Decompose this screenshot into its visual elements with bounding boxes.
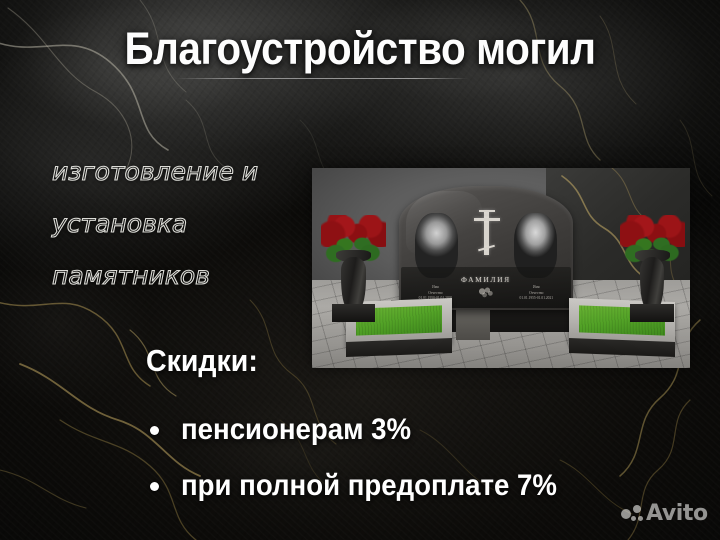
subtitle-line-1: изготовление и (52, 146, 314, 198)
avito-watermark: Avito (621, 503, 708, 525)
vase-pedestal-right (630, 304, 674, 321)
bullet-dot-icon (150, 482, 159, 491)
discount-item-label: пенсионерам 3% (181, 415, 411, 445)
avito-dot-small-right (638, 516, 643, 521)
discounts-heading: Скидки: (146, 345, 258, 376)
subtitle-line-3: памятников (52, 250, 314, 302)
flower-vase-left (320, 200, 388, 324)
headstone-surname: ФАМИЛИЯ (399, 275, 573, 284)
list-item: при полной предоплате 7% (150, 458, 670, 514)
list-item: пенсионерам 3% (150, 402, 670, 458)
avito-dots-icon (621, 504, 643, 524)
discount-item-label: при полной предоплате 7% (181, 471, 557, 501)
vase-body-left (341, 257, 365, 307)
headstone-name-right-dates: 01.01.1955-01.01.2021 (514, 296, 559, 302)
avito-brand-text: Avito (646, 503, 708, 525)
subtitle-block: изготовление и установка памятников (52, 146, 314, 302)
title-underline-rule (176, 78, 468, 79)
flower-vase-right (618, 200, 686, 324)
engraved-flower-icon (474, 285, 498, 301)
poster-canvas: Благоустройство могил изготовление и уст… (0, 0, 720, 540)
vase-body-right (640, 257, 664, 307)
page-title: Благоустройство могил (36, 26, 684, 71)
bullet-dot-icon (150, 426, 159, 435)
monument-photo: ФАМИЛИЯ Имя Отчество 01.01.1950-01.01.20… (312, 168, 690, 368)
avito-dot-large (621, 509, 631, 519)
discounts-list: пенсионерам 3% при полной предоплате 7% (150, 402, 670, 514)
avito-dot-small-left (631, 516, 636, 521)
avito-dot-medium (633, 505, 641, 513)
headstone-name-right: Имя Отчество 01.01.1955-01.01.2021 (514, 285, 559, 302)
cross-crossbar-top (479, 210, 495, 212)
headstone: ФАМИЛИЯ Имя Отчество 01.01.1950-01.01.20… (399, 186, 573, 310)
subtitle-line-2: установка (52, 198, 314, 250)
cross-crossbar-main (474, 218, 500, 221)
vase-pedestal-left (332, 304, 376, 321)
